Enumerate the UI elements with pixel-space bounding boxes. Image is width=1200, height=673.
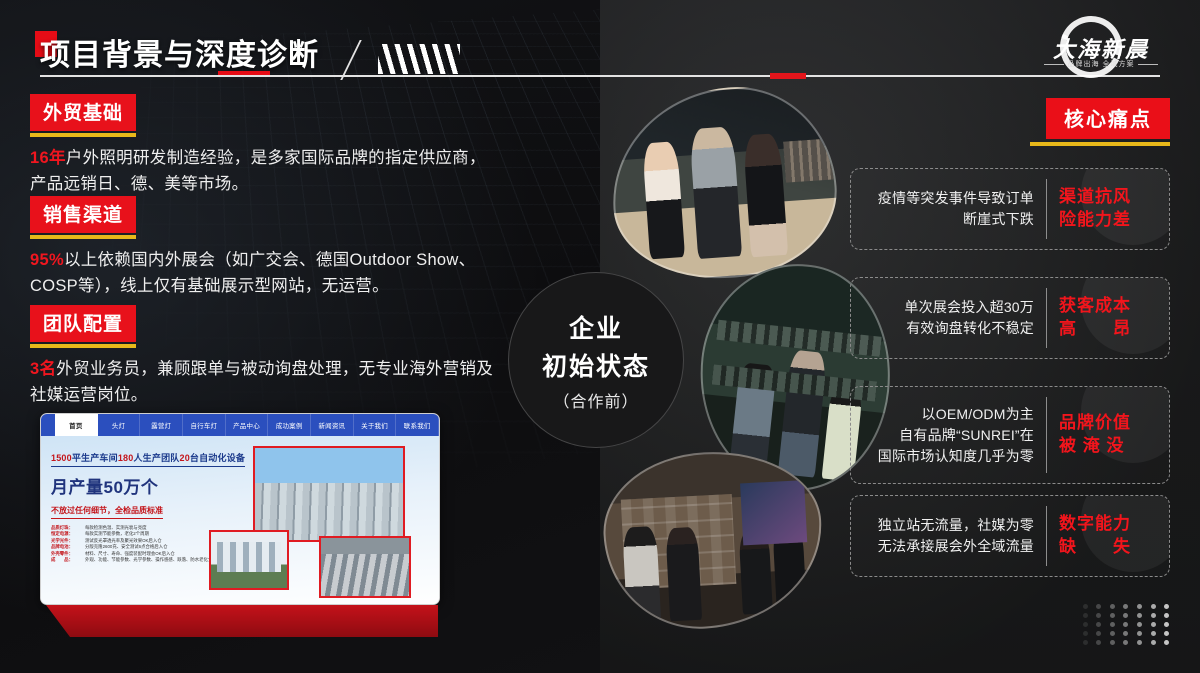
left-block-0: 外贸基础 16年户外照明研发制造经验，是多家国际品牌的指定供应商，产品远销日、德…: [30, 94, 500, 197]
nav-spacer: [41, 414, 55, 436]
dot: [1137, 622, 1142, 627]
website-nav-item[interactable]: 联系我们: [396, 414, 439, 436]
block-body-text: 以上依赖国内外展会（如广交会、德国Outdoor Show、COSP等），线上仅…: [30, 251, 475, 295]
dot: [1110, 604, 1115, 609]
block-highlight: 3名: [30, 360, 56, 378]
pain-point-description: 单次展会投入超30万有效询盘转化不稳定: [851, 297, 1046, 339]
block-body-text: 户外照明研发制造经验，是多家国际品牌的指定供应商，产品远销日、德、美等市场。: [30, 149, 486, 193]
dot: [1151, 622, 1156, 627]
website-stat-line: 1500平生产车间180人生产团队20台自动化设备: [51, 451, 245, 467]
center-line-3: （合作前）: [553, 388, 638, 412]
website-photo-line: [319, 536, 411, 598]
pain-point-description: 疫情等突发事件导致订单断崖式下跌: [851, 188, 1046, 230]
pain-point-card[interactable]: 以OEM/ODM为主自有品牌“SUNREI”在国际市场认知度几乎为零品牌价值被 …: [850, 386, 1170, 484]
pain-key-line: 渠道抗风: [1059, 186, 1163, 209]
pain-desc-line: 国际市场认知度几乎为零: [851, 446, 1034, 467]
website-sub-title: 不放过任何细节，全检品质标准: [51, 505, 163, 519]
pain-key-line: 险能力差: [1059, 209, 1163, 232]
block-badge: 销售渠道: [30, 196, 136, 233]
pain-desc-line: 自有品牌“SUNREI”在: [851, 425, 1034, 446]
dot-grid-decoration: [1080, 603, 1172, 645]
logo-tagline: 品牌出海 全域方案: [1026, 59, 1176, 69]
block-gold-rule: [30, 133, 136, 137]
website-nav-item[interactable]: 自行车灯: [183, 414, 226, 436]
pain-point-card[interactable]: 疫情等突发事件导致订单断崖式下跌渠道抗风险能力差: [850, 168, 1170, 250]
center-line-2: 初始状态: [542, 347, 650, 383]
pain-desc-line: 有效询盘转化不稳定: [851, 318, 1034, 339]
dot: [1151, 640, 1156, 645]
pain-point-keyword: 品牌价值被 淹 没: [1047, 412, 1169, 458]
pain-points-gold-rule: [1030, 142, 1170, 146]
diagonal-hatch-icon: [378, 44, 460, 74]
dot: [1123, 604, 1128, 609]
laptop-mockup: 首页头灯露营灯自行车灯产品中心成功案例新闻资讯关于我们联系我们 1500平生产车…: [40, 413, 440, 637]
block-badge: 团队配置: [30, 305, 136, 342]
petal-figure: [772, 525, 806, 612]
pain-key-line: 高 昂: [1059, 318, 1163, 341]
pain-desc-line: 以OEM/ODM为主: [851, 404, 1034, 425]
dot: [1096, 631, 1101, 636]
dot: [1164, 640, 1169, 645]
dot: [1137, 631, 1142, 636]
pain-point-description: 独立站无流量，社媒为零无法承接展会外全域流量: [851, 515, 1046, 557]
pain-desc-line: 疫情等突发事件导致订单: [851, 188, 1034, 209]
pain-point-keyword: 渠道抗风险能力差: [1047, 186, 1169, 232]
petal-figure: [622, 526, 661, 624]
brand-logo: 大海新晨 品牌出海 全域方案: [1018, 16, 1178, 78]
dot: [1083, 613, 1088, 618]
pain-desc-line: 断崖式下跌: [851, 209, 1034, 230]
pain-key-line: 品牌价值: [1059, 412, 1163, 435]
dot: [1151, 604, 1156, 609]
website-nav[interactable]: 首页头灯露营灯自行车灯产品中心成功案例新闻资讯关于我们联系我们: [41, 414, 439, 436]
stat-number-1: 1500: [51, 453, 72, 463]
dot: [1096, 640, 1101, 645]
stat-number-2: 180: [118, 453, 134, 463]
dot: [1123, 613, 1128, 618]
stat-text-3: 台自动化设备: [190, 453, 245, 463]
dot: [1110, 631, 1115, 636]
petal-shelf: [783, 138, 834, 182]
block-gold-rule: [30, 235, 136, 239]
website-nav-item[interactable]: 产品中心: [226, 414, 269, 436]
pain-points-badge: 核心痛点: [1046, 98, 1170, 139]
pain-desc-line: 单次展会投入超30万: [851, 297, 1034, 318]
website-photo-lab: [209, 530, 289, 590]
dot: [1164, 631, 1169, 636]
stat-text-2: 人生产团队: [133, 453, 179, 463]
dot: [1110, 622, 1115, 627]
website-nav-item[interactable]: 头灯: [98, 414, 141, 436]
laptop-screen: 首页头灯露营灯自行车灯产品中心成功案例新闻资讯关于我们联系我们 1500平生产车…: [40, 413, 440, 605]
dot: [1083, 604, 1088, 609]
pain-desc-line: 无法承接展会外全域流量: [851, 536, 1034, 557]
laptop-base: [38, 605, 438, 637]
pain-point-keyword: 获客成本高 昂: [1047, 295, 1169, 341]
dot: [1096, 613, 1101, 618]
left-block-2: 团队配置 3名外贸业务员，兼顾跟单与被动询盘处理，无专业海外营销及社媒运营岗位。: [30, 305, 500, 408]
dot: [1123, 622, 1128, 627]
petal-figure: [738, 530, 772, 614]
page-title: 项目背景与深度诊断: [40, 30, 319, 74]
slide-root: 项目背景与深度诊断 大海新晨 品牌出海 全域方案 外贸基础 16年户外照明研发制…: [0, 0, 1200, 673]
dot: [1164, 613, 1169, 618]
pain-point-keyword: 数字能力缺 失: [1047, 513, 1169, 559]
dot: [1137, 613, 1142, 618]
dot: [1137, 640, 1142, 645]
petal-figure: [665, 527, 702, 621]
center-state-circle: 企业 初始状态 （合作前）: [508, 272, 684, 448]
pain-key-line: 获客成本: [1059, 295, 1163, 318]
spec-label: 成 品：: [51, 557, 85, 563]
dot: [1137, 604, 1142, 609]
website-nav-item[interactable]: 首页: [55, 414, 98, 436]
left-block-1: 销售渠道 95%以上依赖国内外展会（如广交会、德国Outdoor Show、CO…: [30, 196, 500, 299]
pain-point-description: 以OEM/ODM为主自有品牌“SUNREI”在国际市场认知度几乎为零: [851, 404, 1046, 467]
petal-figure: [730, 362, 778, 467]
website-nav-item[interactable]: 成功案例: [268, 414, 311, 436]
website-nav-item[interactable]: 关于我们: [354, 414, 397, 436]
dot: [1110, 640, 1115, 645]
website-nav-item[interactable]: 新闻资讯: [311, 414, 354, 436]
dot: [1151, 613, 1156, 618]
block-body: 3名外贸业务员，兼顾跟单与被动询盘处理，无专业海外营销及社媒运营岗位。: [30, 357, 500, 408]
dot: [1083, 622, 1088, 627]
block-gold-rule: [30, 344, 136, 348]
pain-desc-line: 独立站无流量，社媒为零: [851, 515, 1034, 536]
petal-figure: [743, 132, 789, 257]
dot: [1164, 622, 1169, 627]
petal-figure: [777, 350, 827, 478]
pain-key-line: 数字能力: [1059, 513, 1163, 536]
dot: [1083, 631, 1088, 636]
block-highlight: 95%: [30, 251, 64, 269]
website-nav-item[interactable]: 露营灯: [140, 414, 183, 436]
dot: [1164, 604, 1169, 609]
pain-points-header: 核心痛点: [1030, 98, 1170, 146]
pain-key-line: 缺 失: [1059, 536, 1163, 559]
website-photo-factory: [253, 446, 405, 542]
dot: [1151, 631, 1156, 636]
stat-number-3: 20: [179, 453, 189, 463]
dot: [1083, 640, 1088, 645]
block-body-text: 外贸业务员，兼顾跟单与被动询盘处理，无专业海外营销及社媒运营岗位。: [30, 360, 493, 404]
dot: [1123, 640, 1128, 645]
center-line-1: 企业: [569, 309, 623, 345]
dot: [1096, 604, 1101, 609]
pain-point-card[interactable]: 单次展会投入超30万有效询盘转化不稳定获客成本高 昂: [850, 277, 1170, 359]
block-body: 16年户外照明研发制造经验，是多家国际品牌的指定供应商，产品远销日、德、美等市场…: [30, 146, 500, 197]
dot: [1123, 631, 1128, 636]
pain-point-card[interactable]: 独立站无流量，社媒为零无法承接展会外全域流量数字能力缺 失: [850, 495, 1170, 577]
dot: [1110, 613, 1115, 618]
header-rule-red-segment: [770, 73, 806, 79]
website-hero: 1500平生产车间180人生产团队20台自动化设备 月产量50万个 不放过任何细…: [41, 436, 439, 605]
header-rule: [40, 75, 1160, 77]
stat-text-1: 平生产车间: [72, 453, 118, 463]
pain-key-line: 被 淹 没: [1059, 435, 1163, 458]
block-body: 95%以上依赖国内外展会（如广交会、德国Outdoor Show、COSP等），…: [30, 248, 500, 299]
block-badge: 外贸基础: [30, 94, 136, 131]
block-highlight: 16年: [30, 149, 66, 167]
dot: [1096, 622, 1101, 627]
